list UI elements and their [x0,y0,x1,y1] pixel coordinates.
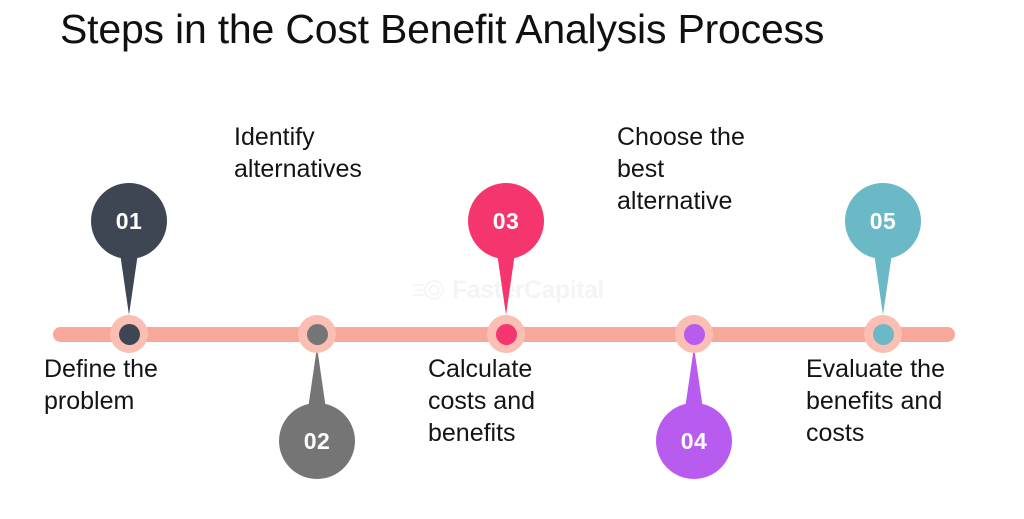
timeline-marker-04[interactable] [675,315,713,353]
step-pin-05[interactable]: 05 [845,183,921,315]
infographic-canvas: Steps in the Cost Benefit Analysis Proce… [0,0,1024,519]
step-caption-04: Choose the best alternative [617,122,745,217]
step-pin-bubble: 02 [279,403,355,479]
step-pin-bubble: 05 [845,183,921,259]
step-pin-bubble: 01 [91,183,167,259]
timeline-marker-core [119,324,140,345]
step-pin-tail [685,347,703,409]
timeline-marker-03[interactable] [487,315,525,353]
step-caption-03: Calculate costs and benefits [428,354,535,449]
timeline-marker-core [684,324,705,345]
page-title: Steps in the Cost Benefit Analysis Proce… [60,6,824,53]
step-number-label: 03 [493,210,520,233]
step-pin-bubble: 03 [468,183,544,259]
timeline-marker-02[interactable] [298,315,336,353]
step-caption-05: Evaluate the benefits and costs [806,354,945,449]
step-number-label: 05 [870,210,897,233]
step-number-label: 04 [681,430,708,453]
timeline-marker-core [496,324,517,345]
step-pin-04[interactable]: 04 [656,347,732,479]
step-pin-tail [308,347,326,409]
timeline-marker-core [873,324,894,345]
step-pin-bubble: 04 [656,403,732,479]
step-number-label: 02 [304,430,331,453]
timeline-marker-01[interactable] [110,315,148,353]
gear-speed-logo-icon [413,275,447,305]
step-number-label: 01 [116,210,143,233]
step-pin-tail [120,253,138,315]
step-pin-tail [497,253,515,315]
timeline-marker-core [307,324,328,345]
step-pin-tail [874,253,892,315]
step-caption-01: Define the problem [44,354,158,418]
step-pin-01[interactable]: 01 [91,183,167,315]
step-pin-02[interactable]: 02 [279,347,355,479]
step-pin-03[interactable]: 03 [468,183,544,315]
step-caption-02: Identify alternatives [234,122,362,186]
timeline-marker-05[interactable] [864,315,902,353]
